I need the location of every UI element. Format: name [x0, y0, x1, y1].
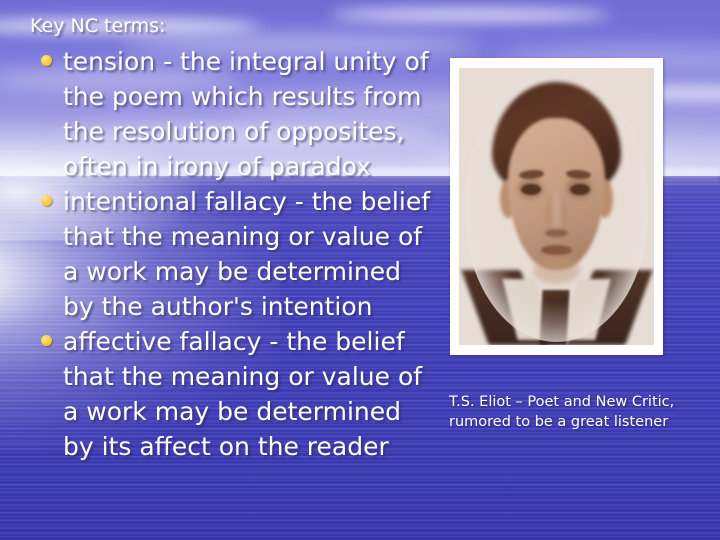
- bullet-text: intentional fallacy - the belief that th…: [63, 184, 430, 324]
- bullet-text: tension - the integral unity of the poem…: [63, 44, 430, 184]
- photo-caption-line-1: T.S. Eliot – Poet and New Critic,: [449, 392, 704, 412]
- slide-content: Key NC terms: tension - the integral uni…: [0, 0, 720, 540]
- bullet-dot-icon: [41, 195, 52, 206]
- presentation-slide: Key NC terms: tension - the integral uni…: [0, 0, 720, 540]
- bullet-dot-icon: [41, 335, 52, 346]
- portrait-photo-inner: [459, 68, 654, 345]
- bullet-list: tension - the integral unity of the poem…: [30, 44, 430, 464]
- list-item: affective fallacy - the belief that the …: [30, 324, 430, 464]
- portrait-illustration: [459, 68, 654, 345]
- photo-caption: T.S. Eliot – Poet and New Critic, rumore…: [449, 392, 704, 432]
- list-item: intentional fallacy - the belief that th…: [30, 184, 430, 324]
- list-item: tension - the integral unity of the poem…: [30, 44, 430, 184]
- bullet-text: affective fallacy - the belief that the …: [63, 324, 430, 464]
- slide-headline: Key NC terms:: [30, 14, 165, 38]
- portrait-photo: [450, 58, 663, 355]
- bullet-dot-icon: [41, 55, 52, 66]
- photo-caption-line-2: rumored to be a great listener: [449, 412, 704, 432]
